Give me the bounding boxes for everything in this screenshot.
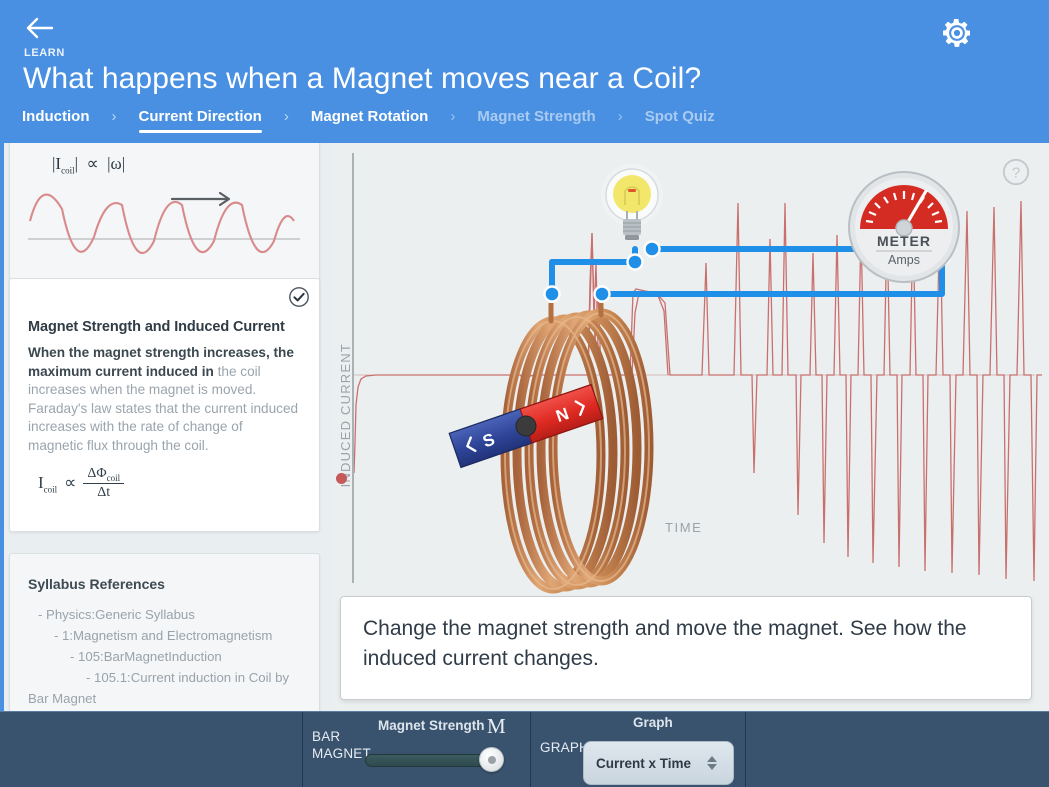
syllabus-line: - 105:BarMagnetInduction [70,646,301,667]
ammeter-gauge: METER Amps [846,169,962,285]
tab-magnet-strength[interactable]: Magnet Strength [477,108,595,133]
note-title: Magnet Strength and Induced Current [28,319,301,335]
section-eyebrow: LEARN [24,47,65,59]
flux-rate-fraction: ΔΦcoil Δt [83,466,124,502]
tab-separator: › [284,108,289,133]
bar-magnet-label-line2: MAGNET [312,746,371,761]
light-bulb[interactable] [599,161,665,257]
faraday-formula: Icoil ∝ ΔΦcoil Δt [38,466,124,502]
graph-type-value: Current x Time [596,756,703,771]
breadcrumb-tabs[interactable]: Induction › Current Direction › Magnet R… [22,108,715,133]
syllabus-line: - 1:Magnetism and Electromagnetism [54,625,301,646]
tab-separator: › [618,108,623,133]
tab-spot-quiz[interactable]: Spot Quiz [645,108,715,133]
bar-magnet-label-line1: BAR [312,729,340,744]
up-down-arrows-icon [703,754,721,772]
slider-track[interactable] [365,754,495,767]
toolbar-divider [745,712,746,787]
bar-magnet-control-label: BAR MAGNET [312,728,371,762]
slider-knob[interactable] [479,747,504,772]
toolbar-divider [530,712,531,787]
check-circle-icon[interactable] [288,286,310,308]
syllabus-title: Syllabus References [28,576,301,592]
gear-icon[interactable] [939,15,975,51]
syllabus-line: Bar Magnet [28,688,301,709]
tab-separator: › [450,108,455,133]
meter-label: METER [877,233,931,249]
graph-type-select[interactable]: Current x Time [583,741,734,785]
tab-current-direction[interactable]: Current Direction [139,108,262,133]
toolbar-divider [302,712,303,787]
left-content-panel[interactable]: |Icoil| ∝ |ω| Magnet Strength and [0,143,330,711]
meter-unit: Amps [888,253,920,267]
magnet-strength-slider[interactable] [365,748,505,772]
graph-section-label: Graph [633,715,673,730]
tab-induction[interactable]: Induction [22,108,90,133]
magnet-strength-label: Magnet Strength [378,718,485,733]
instruction-callout: Change the magnet strength and move the … [340,596,1032,700]
page-title: What happens when a Magnet moves near a … [23,62,701,96]
syllabus-references-card: Syllabus References - Physics:Generic Sy… [9,553,320,711]
concept-note-card: Magnet Strength and Induced Current When… [9,278,320,532]
magnet-strength-unit: M [487,714,506,739]
omega-proportionality-formula: |Icoil| ∝ |ω| [52,154,307,175]
back-arrow-icon[interactable] [24,14,56,42]
tab-magnet-rotation[interactable]: Magnet Rotation [311,108,429,133]
instruction-text: Change the magnet strength and move the … [363,614,1009,674]
panel-accent-rail [0,143,4,711]
graph-control-label: GRAPH [540,739,589,756]
app-header: LEARN What happens when a Magnet moves n… [0,0,1049,143]
tab-separator: › [112,108,117,133]
controls-toolbar [0,711,1049,787]
syllabus-line: - 105.1:Current induction in Coil by [86,667,301,688]
note-body: When the magnet strength increases, the … [28,344,301,456]
syllabus-line: - Physics:Generic Syllabus [38,604,301,625]
